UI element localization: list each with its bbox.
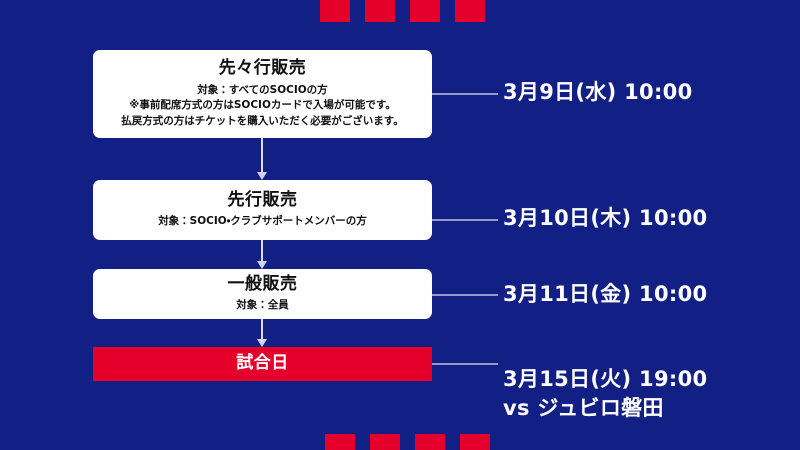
date-leader-line — [432, 294, 498, 296]
match-date-block: 3月15日(火) 19:00 vs ジュビロ磐田 — [503, 337, 707, 450]
stage-date: 3月10日(木) 10:00 — [503, 204, 707, 232]
sales-timeline: 先々行販売 対象：すべてのSOCIOの方 ※事前配席方式の方はSOCIOカードで… — [0, 0, 800, 450]
stage-card-advance-presale: 先々行販売 対象：すべてのSOCIOの方 ※事前配席方式の方はSOCIOカードで… — [93, 50, 432, 138]
arrow-down-icon — [257, 172, 267, 180]
timeline-connector-arrow — [261, 138, 263, 173]
date-leader-line — [432, 363, 498, 365]
date-leader-line — [432, 93, 498, 95]
stage-date: 3月11日(金) 10:00 — [503, 280, 707, 308]
stage-title: 先行販売 — [228, 190, 298, 211]
stage-subtitle: 対象：全員 — [236, 298, 289, 314]
timeline-connector-arrow — [261, 319, 263, 340]
stage-title: 試合日 — [236, 353, 289, 374]
stage-title: 先々行販売 — [219, 58, 307, 79]
stage-card-match-day: 試合日 — [93, 347, 432, 381]
stage-card-presale: 先行販売 対象：SOCIO・クラブサポートメンバーの方 — [93, 180, 432, 240]
arrow-down-icon — [257, 261, 267, 269]
timeline-connector-arrow — [261, 240, 263, 262]
stage-subtitle: 対象：すべてのSOCIOの方 ※事前配席方式の方はSOCIOカードで入場が可能で… — [121, 83, 403, 130]
stage-subtitle: 対象：SOCIO・クラブサポートメンバーの方 — [158, 214, 367, 230]
match-opponent: vs ジュビロ磐田 — [503, 394, 707, 422]
stage-title: 一般販売 — [228, 274, 298, 295]
ticket-sales-schedule-poster: 先々行販売 対象：すべてのSOCIOの方 ※事前配席方式の方はSOCIOカードで… — [0, 0, 800, 450]
stage-card-general-sale: 一般販売 対象：全員 — [93, 269, 432, 319]
stage-date: 3月9日(水) 10:00 — [503, 78, 692, 106]
arrow-down-icon — [257, 339, 267, 347]
stage-date: 3月15日(火) 19:00 — [503, 367, 707, 391]
date-leader-line — [432, 219, 498, 221]
